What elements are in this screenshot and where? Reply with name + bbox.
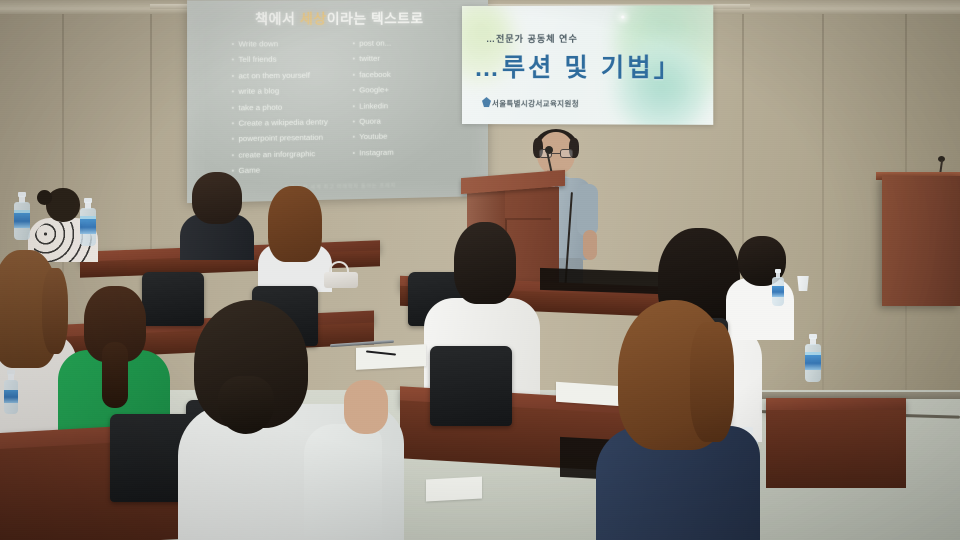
slide-bullet: twitter <box>353 52 394 67</box>
slide-bullet: Quora <box>353 114 394 129</box>
banner-light-glint <box>621 16 624 19</box>
attendee-back-dark-top <box>176 172 258 256</box>
presenter-forearm <box>583 230 597 260</box>
attendee-hair-strand <box>690 322 734 442</box>
wall-seam <box>822 14 824 414</box>
water-bottle <box>14 196 30 240</box>
slide-title-prefix: 책에서 <box>255 11 300 27</box>
banner-main-title: …루션 및 기법」 <box>474 48 682 84</box>
slide-bullet: Create a wikipedia dentry <box>232 115 328 131</box>
organization-emblem-icon <box>482 97 491 107</box>
slide-bullet: Google+ <box>353 83 394 98</box>
slide-bullet: Tell friends <box>232 52 328 67</box>
attendee-ponytail <box>218 376 274 434</box>
slide-bullet: post on... <box>353 36 394 51</box>
slide-bullet: write a blog <box>232 84 328 100</box>
slide-bullet: take a photo <box>232 100 328 116</box>
slide-bullet: Youtube <box>353 130 394 145</box>
attendee-hair <box>268 186 322 262</box>
handbag-body <box>324 272 358 288</box>
attendee-hair-bun <box>37 190 52 205</box>
attendee-foreground-ponytail <box>178 300 428 540</box>
handout-paper <box>426 477 482 502</box>
slide-bullet: Write down <box>232 37 328 52</box>
attendee-forearm <box>344 380 388 434</box>
water-bottle <box>80 202 96 246</box>
handbag-on-desk <box>324 262 358 288</box>
slide-title: 책에서 세상이라는 텍스트로 <box>187 7 488 28</box>
banner-organization: 서울특별시강서교육지원청 <box>492 98 579 109</box>
event-banner: …전문가 공동체 연수 …루션 및 기법」 서울특별시강서교육지원청 <box>462 5 713 125</box>
chair <box>430 346 512 426</box>
slide-bullet: Linkedin <box>353 99 394 114</box>
banner-subtitle: …전문가 공동체 연수 <box>486 32 578 45</box>
slide-bullet-columns: Write down Tell friends act on them your… <box>232 36 474 179</box>
slide-bullet: create an inforgraphic <box>232 147 328 163</box>
attendee-hair <box>192 172 242 224</box>
slide-left-column: Write down Tell friends act on them your… <box>232 37 328 179</box>
desk-row-far-right-face <box>766 410 906 488</box>
lecture-hall-photo: 책에서 세상이라는 텍스트로 Write down Tell friends a… <box>0 0 960 540</box>
slide-bullet: powerpoint presentation <box>232 131 328 147</box>
slide-right-column: post on... twitter facebook Google+ Link… <box>353 36 394 176</box>
attendee-right-long-hair <box>596 300 766 540</box>
attendee-hair <box>454 222 516 304</box>
slide-bullet: act on them yourself <box>232 68 328 83</box>
presenter-sleeve <box>577 184 598 236</box>
slide-title-suffix: 이라는 텍스트로 <box>327 11 424 26</box>
attendee-ponytail <box>102 342 128 408</box>
attendee-sleeve <box>304 424 382 536</box>
water-bottle <box>4 374 18 414</box>
side-cabinet <box>882 176 960 306</box>
water-bottle <box>805 338 821 382</box>
slide-bullet: Instagram <box>353 145 394 160</box>
slide-title-highlight: 세상 <box>300 11 327 26</box>
water-bottle <box>772 272 784 306</box>
slide-bullet: facebook <box>353 68 394 83</box>
